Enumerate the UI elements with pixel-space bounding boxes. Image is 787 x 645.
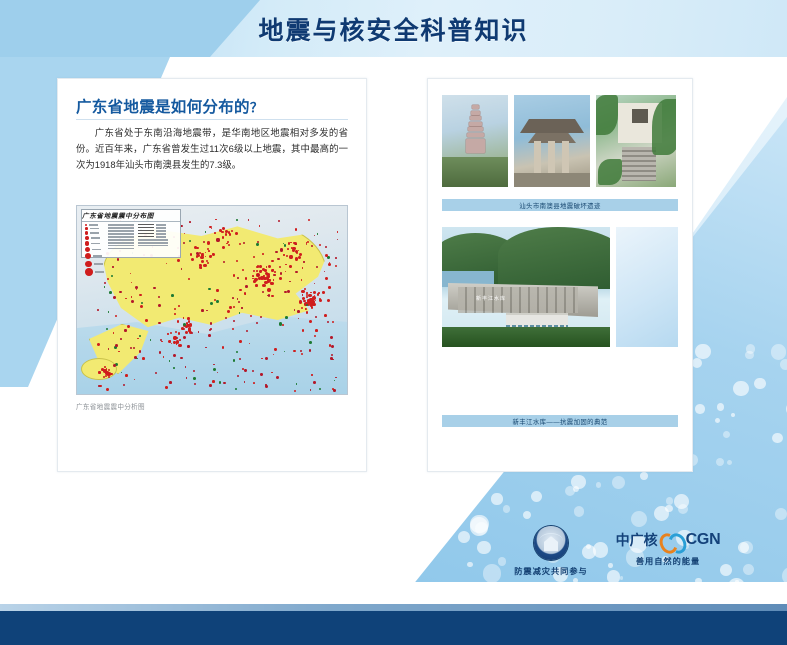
epicenter-dot (153, 287, 156, 290)
epicenter-dot (254, 278, 257, 281)
temple-pillar (562, 141, 569, 175)
epicenter-dot (108, 348, 110, 350)
cgn-logo-icon: 中广核 CGN (616, 530, 721, 550)
bubble (674, 494, 689, 509)
epicenter-dot (184, 233, 185, 234)
legend-label-row (108, 248, 134, 250)
epicenter-dot (113, 296, 116, 299)
epicenter-dot (327, 256, 330, 259)
epicenter-dot (327, 321, 329, 323)
legend-label-row (108, 233, 134, 235)
epicenter-dot (169, 360, 171, 362)
legend-symbol-row (138, 233, 168, 235)
epicenter-dot (119, 291, 121, 293)
decorative-gradient-block (616, 227, 678, 347)
bubble (523, 511, 531, 519)
legend-magnitude-row (85, 268, 104, 276)
page-title: 地震与核安全科普知识 (0, 0, 787, 57)
epicenter-dot (308, 304, 310, 306)
epicenter-dot (237, 298, 239, 300)
epicenter-dot (235, 232, 238, 235)
epicenter-dot (314, 335, 317, 338)
epicenter-dot (337, 231, 339, 233)
epicenter-dot (174, 308, 176, 310)
epicenter-dot (233, 274, 236, 277)
epicenter-dot (299, 300, 302, 303)
legend-middle-column (108, 224, 134, 276)
right-content-panel: 汕头市南澳县地震破坏遗迹 新丰江水库 新丰江水库——抗震加固的典范 (427, 78, 693, 472)
epicenter-dot (293, 350, 296, 353)
epicenter-dot (331, 354, 333, 356)
epicenter-dot (179, 339, 181, 341)
epicenter-dot (265, 357, 268, 360)
epicenter-dot (319, 244, 321, 246)
bubble (715, 418, 720, 423)
legend-label-row (108, 245, 134, 247)
epicenter-dot (227, 241, 229, 243)
epicenter-dot (176, 337, 178, 339)
epicenter-dot (275, 251, 278, 254)
epicenter-dot (182, 328, 184, 330)
bubble (596, 482, 602, 488)
epicenter-dot (261, 358, 263, 360)
cgn-english-name: CGN (686, 531, 721, 549)
bubble (780, 359, 787, 370)
legend-symbol-row (138, 236, 168, 238)
epicenter-dot (173, 341, 175, 343)
top-banner: 地震与核安全科普知识 (0, 0, 787, 57)
epicenter-dot (308, 219, 310, 221)
epicenter-dot (190, 253, 193, 256)
epicenter-dot (237, 375, 239, 377)
photo-caption-top: 汕头市南澳县地震破坏遗迹 (442, 199, 678, 211)
epicenter-dot (231, 230, 233, 232)
epicenter-dot (283, 254, 284, 255)
epicenter-dot (300, 350, 302, 352)
epicenter-dot (124, 329, 126, 331)
temple-pillar (534, 141, 541, 175)
epicenter-dot (236, 260, 238, 262)
epicenter-dot (267, 279, 270, 282)
legend-magnitude-column (85, 224, 104, 276)
epicenter-dot (196, 247, 198, 249)
epicenter-dot (191, 332, 193, 334)
epicenter-dot (174, 313, 176, 315)
epicenter-dot (296, 252, 298, 254)
epicenter-dot (201, 309, 204, 312)
epicenter-dot (256, 270, 258, 272)
footer-logos: 防震减灾共同参与 中广核 CGN 善用自然的能量 (0, 520, 787, 582)
epicenter-dot (280, 272, 282, 274)
epicenter-dot (306, 292, 308, 294)
epicenter-dot (136, 289, 137, 290)
epicenter-dot (131, 300, 134, 303)
epicenter-dot (244, 369, 246, 371)
bubble (640, 472, 648, 480)
epicenter-dot (239, 312, 241, 314)
epicenter-dot (253, 382, 255, 384)
epicenter-dot (325, 277, 328, 280)
epicenter-dot (223, 382, 225, 384)
epicenter-dot (298, 256, 301, 259)
epicenter-dot (315, 329, 318, 332)
epicenter-dot (120, 338, 122, 340)
section-heading: 广东省地震是如何分布的？ (76, 95, 263, 117)
epicenter-dot (315, 316, 317, 318)
cgn-slogan: 善用自然的能量 (636, 555, 700, 567)
epicenter-dot (139, 350, 141, 352)
epicenter-dot (312, 303, 315, 306)
bubble (771, 344, 787, 360)
legend-symbol-row (138, 245, 168, 247)
epicenter-dot (263, 277, 265, 279)
legend-label-row (108, 230, 134, 232)
footer-accent-bar (0, 604, 787, 611)
epicenter-dot (284, 351, 286, 353)
epicenter-dot (310, 389, 312, 391)
house-stairs (622, 147, 656, 181)
epicenter-dot (97, 343, 100, 346)
epicenter-dot (232, 297, 234, 299)
epicenter-dot (315, 300, 316, 301)
epicenter-dot (139, 294, 142, 297)
epicenter-dot (189, 324, 192, 327)
epicenter-dot (309, 349, 311, 351)
epicenter-dot (332, 388, 334, 390)
seismic-bureau-logo-block: 防震减灾共同参与 (512, 526, 590, 577)
epicenter-dot (215, 219, 216, 220)
epicenter-dot (274, 348, 276, 350)
epicenter-dot (210, 302, 213, 305)
cgn-swoosh-icon (660, 532, 684, 549)
epicenter-dot (193, 377, 196, 380)
epicenter-dot (250, 315, 252, 317)
epicenter-dot (239, 340, 242, 343)
epicenter-dot (187, 317, 190, 320)
epicenter-dot (104, 282, 106, 284)
photo-caption-bottom: 新丰江水库——抗震加固的典范 (442, 415, 678, 427)
epicenter-dot (238, 301, 240, 303)
epicenter-dot (203, 264, 207, 268)
epicenter-dot (113, 332, 115, 334)
epicenter-dot (108, 376, 110, 378)
bubble (491, 493, 502, 504)
dam-hill-right (498, 227, 610, 289)
epicenter-dot (271, 372, 272, 373)
bubble (695, 404, 704, 413)
epicenter-dot (297, 310, 300, 313)
epicenter-dot (302, 267, 303, 268)
epicenter-dot (309, 320, 312, 323)
epicenter-dot (194, 383, 196, 385)
epicenter-dot (302, 294, 303, 295)
epicenter-dot (206, 310, 208, 312)
epicenter-dot (189, 221, 191, 223)
epicenter-dot (248, 219, 250, 221)
poster-page: 地震与核安全科普知识 广东省地震是如何分布的？ 广东省处于东南沿海地震带，是华南… (0, 0, 787, 645)
epicenter-dot (207, 262, 209, 264)
epicenter-dot (142, 357, 145, 360)
foliage (596, 95, 618, 135)
epicenter-dot (330, 357, 333, 360)
epicenter-dot (307, 241, 309, 243)
epicenter-dot (106, 368, 108, 370)
epicenter-dot (329, 344, 331, 346)
epicenter-dot (335, 257, 337, 259)
epicenter-dot (115, 315, 117, 317)
epicenter-dot (319, 299, 322, 302)
seismic-bureau-seal-icon (534, 526, 568, 560)
epicenter-dot (187, 345, 189, 347)
epicenter-dot (145, 319, 148, 322)
epicenter-dot (271, 269, 274, 272)
epicenter-dot (109, 291, 112, 294)
epicenter-dot (330, 336, 333, 339)
epicenter-dot (236, 219, 238, 221)
bubble (723, 431, 731, 439)
bubble (717, 403, 724, 410)
epicenter-dot (239, 289, 242, 292)
temple-pillar (548, 141, 555, 175)
epicenter-dot (121, 372, 122, 373)
epicenter-dot (325, 246, 327, 248)
epicenter-dot (193, 370, 195, 372)
bubble (692, 358, 703, 369)
epicenter-dot (213, 368, 216, 371)
epicenter-dot (183, 242, 185, 244)
legend-symbol-row (138, 242, 168, 244)
epicenter-dot (107, 278, 109, 280)
epicenter-dot (186, 377, 187, 378)
footer-white-gap (0, 582, 787, 604)
epicenter-dot (301, 279, 303, 281)
epicenter-dot (290, 242, 292, 244)
epicenter-dot (130, 347, 132, 349)
house-door (632, 109, 648, 123)
epicenter-dot (216, 289, 218, 291)
epicenter-dot (237, 277, 239, 279)
epicenter-dot (337, 239, 338, 240)
epicenter-dot (178, 344, 182, 348)
footer-navy-bar (0, 611, 787, 645)
bubble (573, 486, 579, 492)
epicenter-dot (273, 274, 275, 276)
legend-right-column (138, 224, 168, 276)
earthquake-map-figure: 广东省地震震中分布图 广东省地震震中分析图 (76, 205, 348, 395)
epicenter-dot (306, 311, 308, 313)
epicenter-dot (97, 309, 99, 311)
epicenter-dot (301, 307, 303, 309)
map-legend-rows (82, 222, 180, 278)
epicenter-dot (334, 380, 336, 382)
dam-inscription: 新丰江水库 (476, 295, 506, 302)
epicenter-dot (239, 243, 241, 245)
epicenter-dot (115, 344, 118, 347)
epicenter-dot (306, 244, 308, 246)
epicenter-dot (289, 265, 292, 268)
epicenter-dot (268, 294, 270, 296)
epicenter-dot (219, 229, 222, 232)
legend-magnitude-row (85, 261, 104, 268)
photo-hill (442, 157, 508, 187)
epicenter-dot (232, 328, 234, 330)
epicenter-dot (133, 347, 135, 349)
epicenter-dot (168, 340, 171, 343)
bubble (503, 505, 510, 512)
epicenter-dot (104, 286, 106, 288)
epicenter-dot (158, 322, 161, 325)
epicenter-dot (268, 265, 271, 268)
epicenter-dot (134, 356, 137, 359)
epicenter-dot (165, 386, 168, 389)
epicenter-dot (178, 332, 181, 335)
epicenter-dot (293, 242, 296, 245)
epicenter-dot (222, 231, 224, 233)
epicenter-dot (229, 233, 231, 235)
epicenter-dot (208, 334, 211, 337)
epicenter-dot (262, 268, 265, 271)
epicenter-dot (98, 385, 100, 387)
bubble (754, 378, 766, 390)
epicenter-dot (279, 322, 282, 325)
seismic-bureau-slogan: 防震减灾共同参与 (514, 565, 588, 577)
epicenter-dot (262, 253, 264, 255)
epicenter-dot (260, 373, 262, 375)
pagoda-ruin-photo (442, 95, 508, 187)
epicenter-dot (227, 310, 230, 313)
epicenter-dot (260, 316, 262, 318)
epicenter-dot (244, 381, 245, 382)
epicenter-dot (262, 284, 266, 288)
epicenter-dot (173, 367, 175, 369)
bubble (574, 506, 585, 517)
epicenter-dot (118, 351, 120, 353)
epicenter-dot (296, 383, 297, 384)
epicenter-dot (198, 331, 200, 333)
epicenter-dot (222, 246, 226, 250)
epicenter-dot (295, 271, 298, 274)
legend-symbol-row (138, 239, 168, 241)
epicenter-dot (177, 320, 179, 322)
bubble (772, 433, 783, 444)
bubble (733, 381, 748, 396)
epicenter-dot (316, 266, 318, 268)
epicenter-dot (302, 297, 305, 300)
epicenter-dot (214, 232, 216, 234)
bubble (716, 458, 724, 466)
epicenter-dot (219, 381, 222, 384)
map-inner-title: 广东省地震震中分布图 (82, 210, 154, 220)
epicenter-dot (274, 271, 276, 273)
epicenter-dot (279, 277, 282, 280)
epicenter-dot (209, 255, 212, 258)
epicenter-dot (256, 322, 259, 325)
epicenter-dot (180, 357, 182, 359)
bubble (775, 508, 787, 520)
section-body-text: 广东省处于东南沿海地震带，是华南地区地震相对多发的省份。近百年来，广东省曾发生过… (76, 125, 348, 174)
epicenter-dot (113, 364, 116, 367)
epicenter-dot (302, 329, 304, 331)
bubble (746, 344, 756, 354)
epicenter-dot (235, 388, 237, 390)
legend-symbol-row (138, 227, 168, 229)
epicenter-dot (134, 379, 136, 381)
epicenter-dot (245, 285, 248, 288)
bubble (531, 491, 542, 502)
epicenter-dot (106, 328, 108, 330)
epicenter-dot (305, 308, 307, 310)
epicenter-dot (292, 247, 294, 249)
epicenter-dot (210, 322, 212, 324)
epicenter-dot (137, 338, 139, 340)
epicenter-dot (255, 284, 258, 287)
epicenter-dot (270, 282, 273, 285)
epicenter-dot (216, 300, 219, 303)
epicenter-dot (286, 255, 288, 257)
epicenter-dot (158, 296, 160, 298)
epicenter-dot (216, 238, 219, 241)
epicenter-dot (252, 370, 254, 372)
epicenter-dot (287, 290, 290, 293)
epicenter-dot (266, 273, 269, 276)
map-caption: 广东省地震震中分析图 (76, 401, 145, 411)
bubble (612, 476, 625, 489)
epicenter-dot (98, 371, 101, 374)
epicenter-dot (139, 335, 141, 337)
foliage (652, 99, 676, 155)
epicenter-dot (244, 292, 247, 295)
epicenter-dot (278, 220, 280, 222)
epicenter-dot (317, 233, 319, 235)
epicenter-dot (265, 384, 266, 385)
epicenter-dot (163, 356, 164, 357)
epicenter-dot (259, 225, 261, 227)
epicenter-dot (285, 264, 286, 265)
epicenter-dot (225, 230, 228, 233)
epicenter-dot (196, 252, 199, 255)
epicenter-dot (289, 281, 291, 283)
epicenter-dot (328, 263, 331, 266)
epicenter-dot (309, 341, 312, 344)
epicenter-dot (253, 276, 255, 278)
epicenter-dot (211, 228, 213, 230)
epicenter-dot (222, 227, 225, 230)
epicenter-dot (328, 286, 331, 289)
epicenter-dot (228, 244, 230, 246)
foliage (598, 159, 622, 185)
epicenter-dot (253, 270, 255, 272)
section-heading-text: 广东省地震是如何分布的 (76, 99, 250, 116)
epicenter-dot (294, 390, 296, 392)
epicenter-dot (303, 261, 304, 262)
epicenter-dot (236, 351, 238, 353)
legend-magnitude-row (85, 231, 104, 234)
temple-roof (520, 119, 584, 133)
bubble (695, 344, 711, 360)
epicenter-dot (171, 343, 173, 345)
epicenter-dot (324, 314, 327, 317)
epicenter-dot (279, 266, 281, 268)
epicenter-dot (201, 260, 204, 263)
epicenter-dot (301, 353, 303, 355)
epicenter-dot (273, 354, 274, 355)
legend-label-row (108, 239, 134, 241)
epicenter-dot (322, 291, 325, 294)
epicenter-dot (140, 305, 143, 308)
epicenter-dot (280, 249, 283, 252)
epicenter-dot (225, 233, 228, 236)
epicenter-dot (217, 372, 218, 373)
